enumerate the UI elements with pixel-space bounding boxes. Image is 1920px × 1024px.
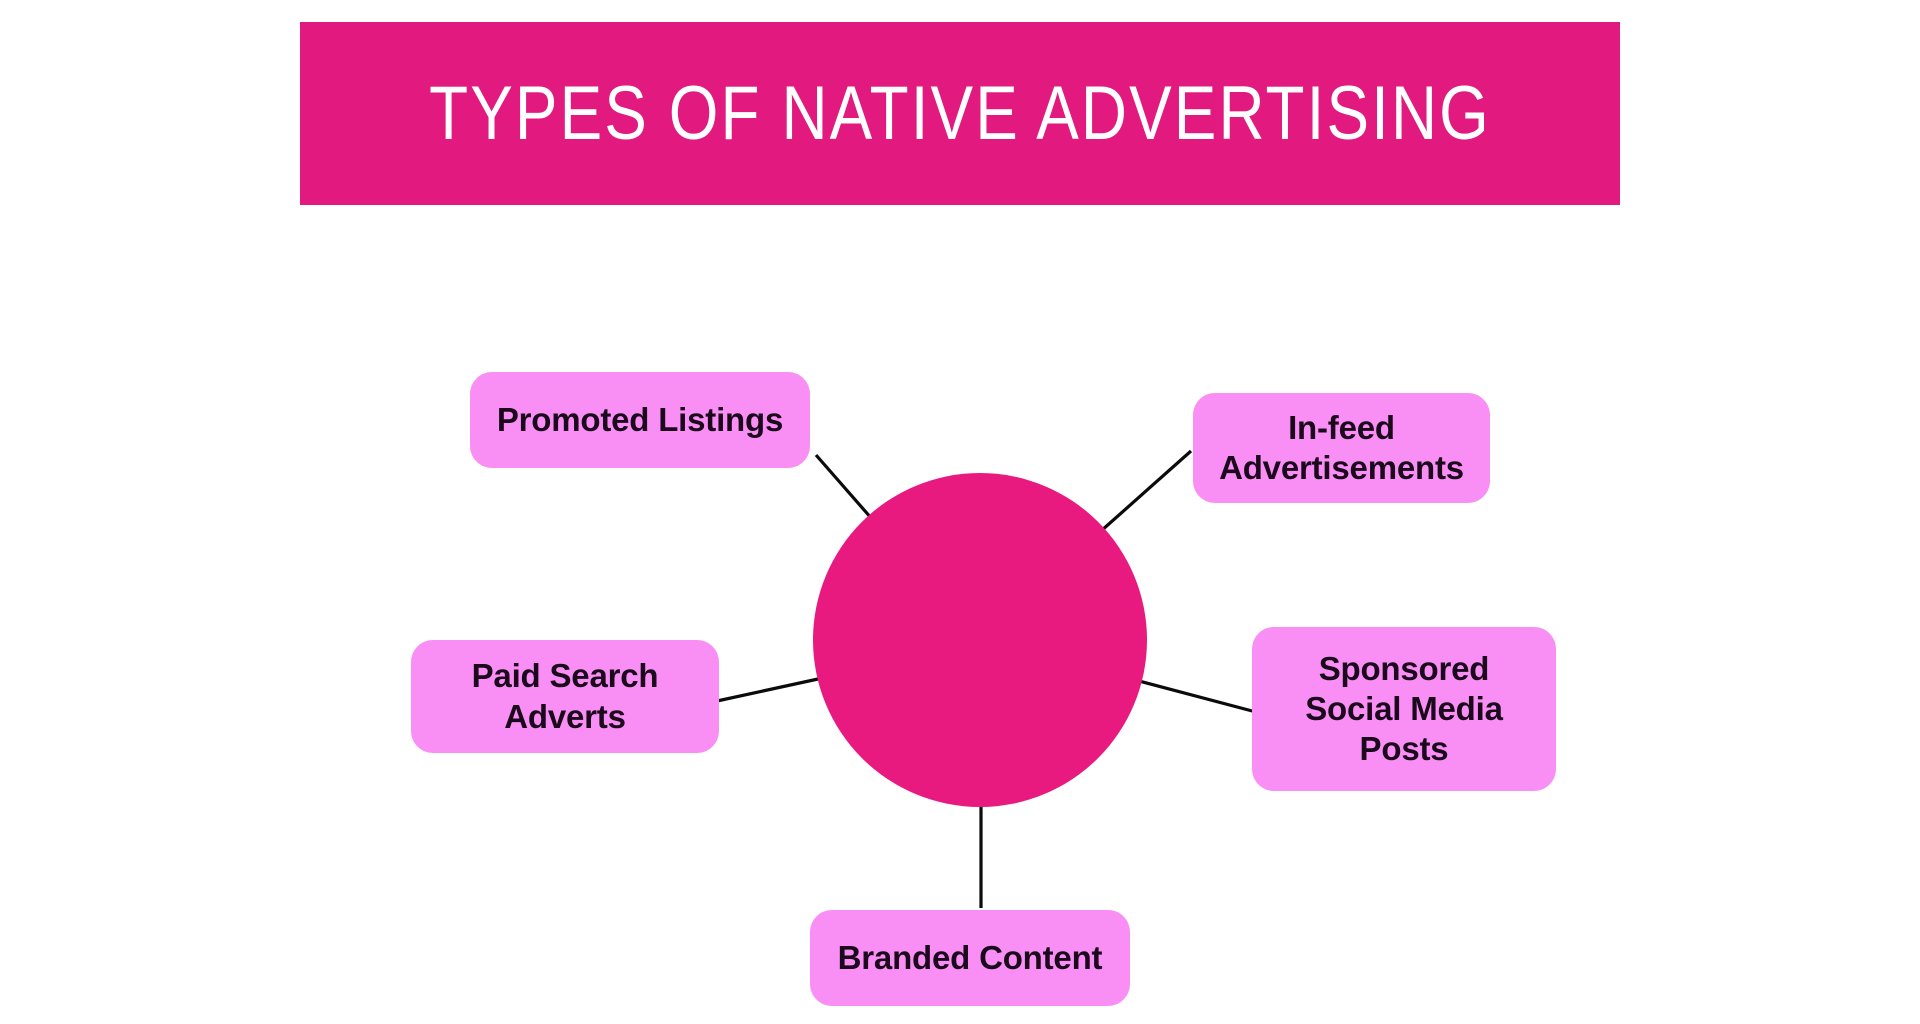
node-label: Promoted Listings xyxy=(497,400,783,440)
node-label: In-feed Advertisements xyxy=(1219,408,1464,489)
node-branded-content[interactable]: Branded Content xyxy=(810,910,1130,1006)
node-sponsored-social-media-posts[interactable]: Sponsored Social Media Posts xyxy=(1252,627,1556,791)
title-banner: Types of Native Advertising xyxy=(300,22,1620,205)
node-label: Paid Search Adverts xyxy=(472,656,659,737)
connector-in-feed-advertisements xyxy=(1101,451,1191,531)
page-title: Types of Native Advertising xyxy=(429,76,1491,152)
node-label: Branded Content xyxy=(838,938,1103,978)
hub-circle xyxy=(813,473,1147,807)
connector-paid-search-adverts xyxy=(717,679,818,701)
connector-sponsored-social-media-posts xyxy=(1139,681,1256,712)
node-in-feed-advertisements[interactable]: In-feed Advertisements xyxy=(1193,393,1490,503)
slide-canvas: Types of Native Advertising Promoted Lis… xyxy=(0,0,1920,1024)
node-paid-search-adverts[interactable]: Paid Search Adverts xyxy=(411,640,719,753)
node-label: Sponsored Social Media Posts xyxy=(1305,649,1503,770)
connector-promoted-listings xyxy=(816,455,872,519)
node-promoted-listings[interactable]: Promoted Listings xyxy=(470,372,810,468)
